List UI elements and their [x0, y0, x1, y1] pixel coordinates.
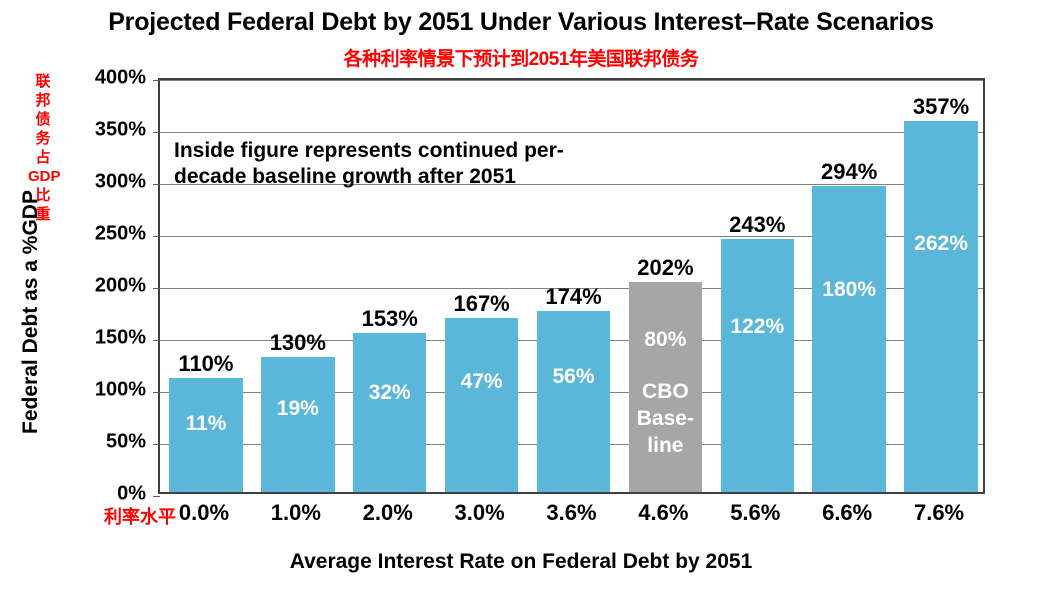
- bar-inner-label-1.0pct: 19%: [261, 397, 335, 421]
- y-tick-mark-150: [153, 340, 160, 341]
- bar-inner-label-3.0pct: 47%: [445, 370, 519, 394]
- bar-value-label-5.6pct: 243%: [697, 212, 817, 238]
- x-axis-title-chinese: 利率水平: [104, 503, 176, 529]
- x-tick-label-8: 7.6%: [884, 500, 994, 526]
- bar-7.6pct[interactable]: 262%: [904, 121, 978, 492]
- y-tick-label-150: 150%: [56, 327, 146, 350]
- y-tick-mark-350: [153, 132, 160, 133]
- bar-note-cbo-baseline: CBOBase-line: [629, 378, 703, 459]
- y-tick-mark-100: [153, 392, 160, 393]
- inside-figure-annotation: Inside figure represents continued per- …: [174, 138, 614, 190]
- chart-page: Projected Federal Debt by 2051 Under Var…: [0, 0, 1042, 593]
- bar-inner-label-7.6pct: 262%: [904, 232, 978, 256]
- page-subtitle-chinese: 各种利率情景下预计到2051年美国联邦债务: [0, 44, 1042, 71]
- y-tick-label-50: 50%: [56, 431, 146, 454]
- bar-note-line-0: CBO: [629, 378, 703, 405]
- y-tick-mark-50: [153, 444, 160, 445]
- bar-6.6pct[interactable]: 180%: [812, 186, 886, 492]
- bar-3.6pct[interactable]: 56%: [537, 311, 611, 492]
- bar-4.6pct[interactable]: 80%CBOBase-line: [629, 282, 703, 492]
- bar-inner-label-3.6pct: 56%: [537, 365, 611, 389]
- y-tick-mark-250: [153, 236, 160, 237]
- bar-value-label-3.6pct: 174%: [514, 284, 634, 310]
- bar-note-line-2: line: [629, 432, 703, 459]
- bar-value-label-1.0pct: 130%: [238, 330, 358, 356]
- bar-1.0pct[interactable]: 19%: [261, 357, 335, 492]
- y-tick-mark-300: [153, 184, 160, 185]
- bar-value-label-6.6pct: 294%: [789, 159, 909, 185]
- y-tick-mark-0: [153, 496, 160, 497]
- page-title: Projected Federal Debt by 2051 Under Var…: [0, 8, 1042, 37]
- plot-area: 11%110%19%130%32%153%47%167%56%174%80%CB…: [158, 78, 985, 494]
- bar-inner-label-0.0pct: 11%: [169, 412, 243, 436]
- bar-inner-label-4.6pct: 80%: [629, 328, 703, 352]
- bar-2.0pct[interactable]: 32%: [353, 333, 427, 492]
- y-tick-mark-200: [153, 288, 160, 289]
- bar-note-line-1: Base-: [629, 405, 703, 432]
- y-tick-label-200: 200%: [56, 275, 146, 298]
- bar-0.0pct[interactable]: 11%: [169, 378, 243, 492]
- bar-value-label-7.6pct: 357%: [881, 94, 1001, 120]
- bar-inner-label-2.0pct: 32%: [353, 381, 427, 405]
- bar-3.0pct[interactable]: 47%: [445, 318, 519, 492]
- y-tick-label-350: 350%: [56, 119, 146, 142]
- y-tick-label-300: 300%: [56, 171, 146, 194]
- bar-inner-label-5.6pct: 122%: [721, 315, 795, 339]
- y-tick-mark-400: [153, 80, 160, 81]
- y-tick-label-250: 250%: [56, 223, 146, 246]
- bar-5.6pct[interactable]: 122%: [721, 239, 795, 492]
- x-axis-title: Average Interest Rate on Federal Debt by…: [0, 550, 1042, 574]
- annotation-line-2: decade baseline growth after 2051: [174, 164, 614, 190]
- y-tick-label-400: 400%: [56, 67, 146, 90]
- y-tick-label-100: 100%: [56, 379, 146, 402]
- annotation-line-1: Inside figure represents continued per-: [174, 138, 614, 164]
- bar-inner-label-6.6pct: 180%: [812, 278, 886, 302]
- bar-value-label-4.6pct: 202%: [605, 255, 725, 281]
